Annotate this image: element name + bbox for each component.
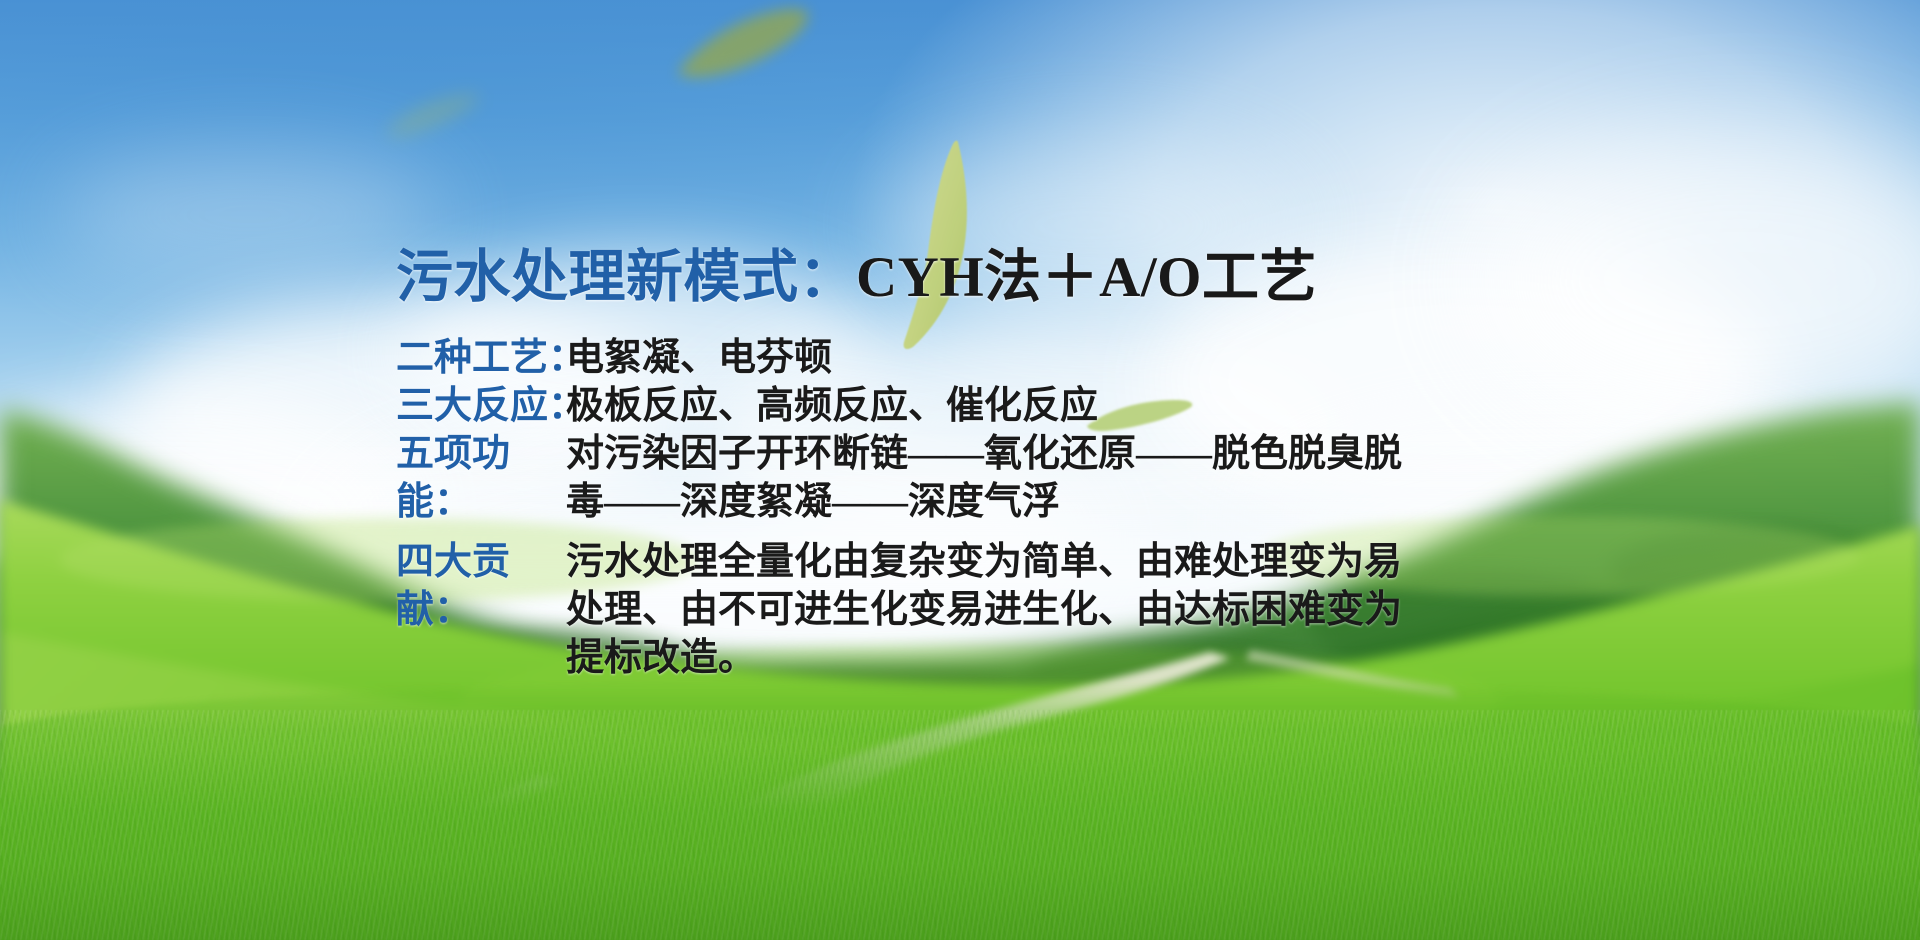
page-title-highlight: 污水处理新模式：	[396, 246, 856, 309]
slide-text-block: 污水处理新模式：CYH法＋A/O工艺 二种工艺： 电絮凝、电芬顿 三大反应： 极…	[396, 246, 1516, 682]
list-item-label: 三大反应：	[396, 382, 566, 430]
slide-canvas: 污水处理新模式：CYH法＋A/O工艺 二种工艺： 电絮凝、电芬顿 三大反应： 极…	[0, 0, 1920, 940]
cloud-shape	[60, 150, 440, 280]
list-item: 四大贡献： 污水处理全量化由复杂变为简单、由难处理变为易处理、由不可进生化变易进…	[396, 538, 1516, 682]
list-item-text: 极板反应、高频反应、催化反应	[566, 382, 1516, 430]
list-item-text: 对污染因子开环断链——氧化还原——脱色脱臭脱毒——深度絮凝——深度气浮	[566, 430, 1426, 526]
bullet-list: 二种工艺： 电絮凝、电芬顿 三大反应： 极板反应、高频反应、催化反应 五项功能：…	[396, 334, 1516, 682]
list-item-text: 污水处理全量化由复杂变为简单、由难处理变为易处理、由不可进生化变易进生化、由达标…	[566, 538, 1426, 682]
list-item-label: 五项功能：	[396, 430, 566, 526]
page-title-rest: CYH法＋A/O工艺	[856, 246, 1317, 309]
list-item: 二种工艺： 电絮凝、电芬顿	[396, 334, 1516, 382]
list-item-label: 二种工艺：	[396, 334, 566, 382]
floating-leaf-top-icon	[670, 4, 814, 83]
list-item-text: 电絮凝、电芬顿	[566, 334, 1516, 382]
floating-leaf-left-icon	[385, 92, 481, 138]
list-item-label: 四大贡献：	[396, 538, 566, 634]
list-spacer	[396, 526, 1516, 538]
grass-vignette	[0, 750, 1920, 940]
list-item: 五项功能： 对污染因子开环断链——氧化还原——脱色脱臭脱毒——深度絮凝——深度气…	[396, 430, 1516, 526]
page-title: 污水处理新模式：CYH法＋A/O工艺	[396, 246, 1516, 310]
list-item: 三大反应： 极板反应、高频反应、催化反应	[396, 382, 1516, 430]
